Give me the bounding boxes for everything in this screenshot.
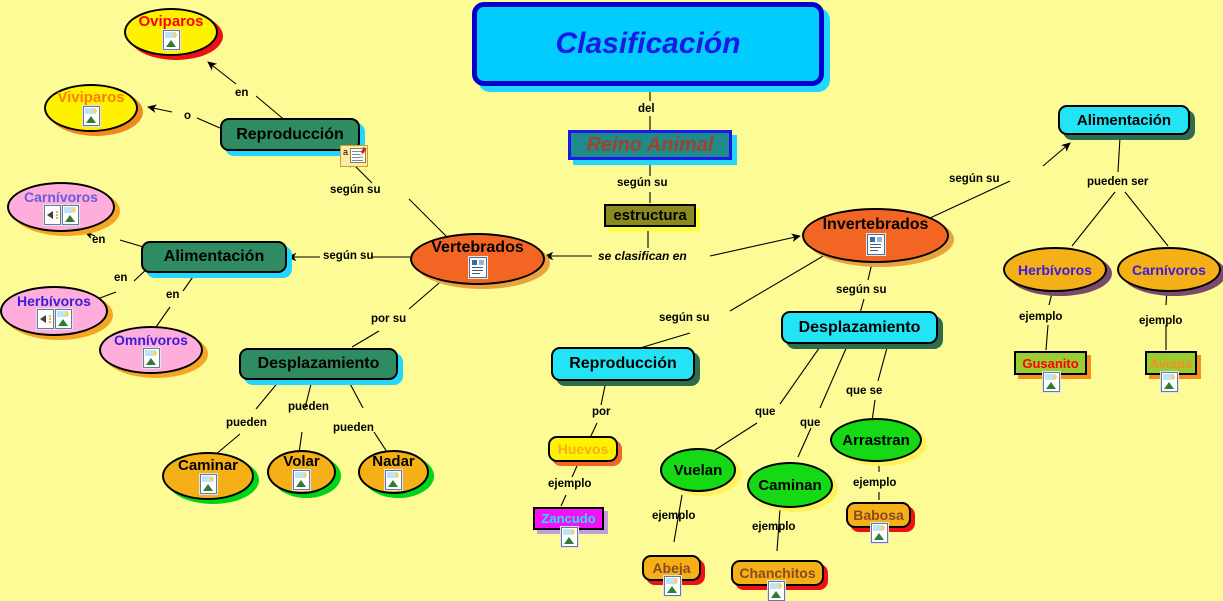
picture-icon[interactable] (62, 205, 79, 225)
node-label: Zancudo (541, 512, 595, 525)
node-label: Carnívoros (1132, 263, 1206, 277)
picture-icon[interactable] (293, 470, 310, 490)
picture-icon[interactable] (385, 470, 402, 490)
node-icons (200, 474, 217, 494)
node-icons (163, 30, 180, 50)
node-omnivoros-vertebrados[interactable]: Omnívoros (99, 326, 203, 374)
picture-icon[interactable] (83, 106, 100, 126)
node-reproduccion-vertebrados[interactable]: Reproducción (220, 118, 360, 151)
node-label: Omnívoros (114, 333, 188, 347)
node-label: Vertebrados (431, 240, 523, 256)
node-icons (83, 106, 100, 126)
concept-map-canvas: Clasificación Reino Animal estructura Ve… (0, 0, 1223, 601)
picture-icon[interactable] (871, 523, 888, 543)
node-label: Desplazamiento (258, 356, 380, 372)
edge-layer (0, 0, 1223, 601)
node-label: Viviparos (57, 90, 124, 105)
sound-icon[interactable] (44, 205, 61, 225)
node-label: Abeja (652, 561, 690, 575)
node-carnivoros-vertebrados[interactable]: Carnívoros (7, 182, 115, 232)
node-label: estructura (613, 208, 686, 223)
edge-label-segun-su-alimentacion-i: según su (949, 173, 999, 185)
edge-label-ejemplo-gusanito: ejemplo (1019, 311, 1062, 323)
picture-icon[interactable] (200, 474, 217, 494)
node-invertebrados[interactable]: Invertebrados (802, 208, 949, 263)
edge-label-en-carnivoros-v: en (92, 234, 105, 246)
node-label: Arrastran (842, 433, 910, 448)
node-estructura[interactable]: estructura (604, 204, 696, 227)
node-icons (44, 205, 79, 225)
node-label: Babosa (853, 508, 904, 522)
picture-icon[interactable] (664, 576, 681, 596)
node-vertebrados[interactable]: Vertebrados (410, 233, 545, 285)
node-caminan[interactable]: Caminan (747, 462, 833, 508)
node-desplazamiento-invertebrados[interactable]: Desplazamiento (781, 311, 938, 344)
node-label: Caminar (178, 458, 238, 473)
edge-label-pueden-caminar: pueden (226, 417, 267, 429)
node-label: Invertebrados (823, 217, 929, 233)
node-label: Vuelan (674, 463, 723, 478)
node-herbivoros-invertebrados[interactable]: Herbívoros (1003, 247, 1107, 292)
picture-icon[interactable] (1043, 372, 1060, 392)
picture-icon[interactable] (1161, 372, 1178, 392)
node-label: Huevos (558, 442, 609, 456)
node-nadar[interactable]: Nadar (358, 450, 429, 494)
edge-label-ejemplo-chanchitos: ejemplo (752, 521, 795, 533)
node-label: Alimentación (164, 249, 264, 265)
note-icon[interactable]: a (340, 145, 368, 167)
edge-label-por-su-desplazamiento-v: por su (371, 313, 406, 325)
document-icon[interactable] (867, 234, 885, 255)
node-label: Reproducción (569, 356, 677, 372)
edge-label-que-vuelan: que (755, 406, 775, 418)
edge-label-del: del (638, 103, 655, 115)
node-label: Nadar (372, 454, 415, 469)
edge-label-ejemplo-babosa: ejemplo (853, 477, 896, 489)
document-icon[interactable] (469, 257, 487, 278)
picture-icon[interactable] (55, 309, 72, 329)
edge-label-se-clasifican-en: se clasifican en (598, 249, 687, 263)
node-clasificacion[interactable]: Clasificación (472, 2, 824, 86)
node-label: Alimentación (1077, 113, 1171, 128)
node-desplazamiento-vertebrados[interactable]: Desplazamiento (239, 348, 398, 380)
node-label: Reproducción (236, 127, 344, 143)
edge-label-en-herbivoros-v: en (114, 272, 127, 284)
edge-label-que-caminan: que (800, 417, 820, 429)
node-label: Oviparos (138, 14, 203, 29)
node-carnivoros-invertebrados[interactable]: Carnívoros (1117, 247, 1221, 292)
edge-label-en-oviparos: en (235, 87, 248, 99)
edge-label-segun-su-reproduccion-i: según su (659, 312, 709, 324)
node-label: Clasificación (555, 29, 740, 59)
node-label: Carnívoros (24, 190, 98, 204)
node-icons (385, 470, 402, 490)
picture-icon[interactable] (768, 581, 785, 601)
edge-label-segun-su-alimentacion-v: según su (323, 250, 373, 262)
edge-label-ejemplo-abeja: ejemplo (652, 510, 695, 522)
edge-label-por-huevos: por (592, 406, 611, 418)
node-alimentacion-vertebrados[interactable]: Alimentación (141, 241, 287, 273)
edge-label-pueden-ser: pueden ser (1087, 176, 1148, 188)
node-volar[interactable]: Volar (267, 450, 336, 494)
edge-label-que-se-arrastran: que se (846, 385, 882, 397)
sound-icon[interactable] (37, 309, 54, 329)
node-reino-animal[interactable]: Reino Animal (568, 130, 732, 160)
node-arrastran[interactable]: Arrastran (830, 418, 922, 462)
node-huevos[interactable]: Huevos (548, 436, 618, 462)
node-label: Chanchitos (739, 566, 815, 580)
node-alimentacion-invertebrados[interactable]: Alimentación (1058, 105, 1190, 135)
node-herbivoros-vertebrados[interactable]: Herbívoros (0, 286, 108, 336)
edge-label-o-viviparos: o (184, 110, 191, 122)
node-label: Caminan (758, 478, 821, 493)
edge-label-en-omnivoros-v: en (166, 289, 179, 301)
edge-label-segun-su-desplazamiento-i: según su (836, 284, 886, 296)
node-icons (469, 257, 487, 278)
node-icons (37, 309, 72, 329)
node-viviparos[interactable]: Viviparos (44, 84, 138, 132)
node-label: Herbívoros (17, 294, 91, 308)
edge-label-pueden-nadar: pueden (333, 422, 374, 434)
edge-label-pueden-volar: pueden (288, 401, 329, 413)
edge-label-segun-su-reproduccion-v: según su (330, 184, 380, 196)
edge-label-ejemplo-zancudo: ejemplo (548, 478, 591, 490)
node-label: Herbívoros (1018, 263, 1092, 277)
picture-icon[interactable] (143, 348, 160, 368)
node-label: Gusanito (1022, 357, 1078, 370)
node-caminar[interactable]: Caminar (162, 452, 254, 500)
node-label: Avispa (1150, 357, 1192, 370)
picture-icon[interactable] (561, 527, 578, 547)
edge-label-ejemplo-avispa: ejemplo (1139, 315, 1182, 327)
node-label: Desplazamiento (799, 320, 921, 336)
node-reproduccion-invertebrados[interactable]: Reproducción (551, 347, 695, 381)
node-oviparos[interactable]: Oviparos (124, 8, 218, 56)
node-label: Volar (283, 454, 319, 469)
picture-icon[interactable] (163, 30, 180, 50)
node-icons (293, 470, 310, 490)
edge-label-segun-su-estructura: según su (617, 177, 667, 189)
node-vuelan[interactable]: Vuelan (660, 448, 736, 492)
node-label: Reino Animal (586, 135, 713, 155)
node-icons (867, 234, 885, 255)
node-icons (143, 348, 160, 368)
